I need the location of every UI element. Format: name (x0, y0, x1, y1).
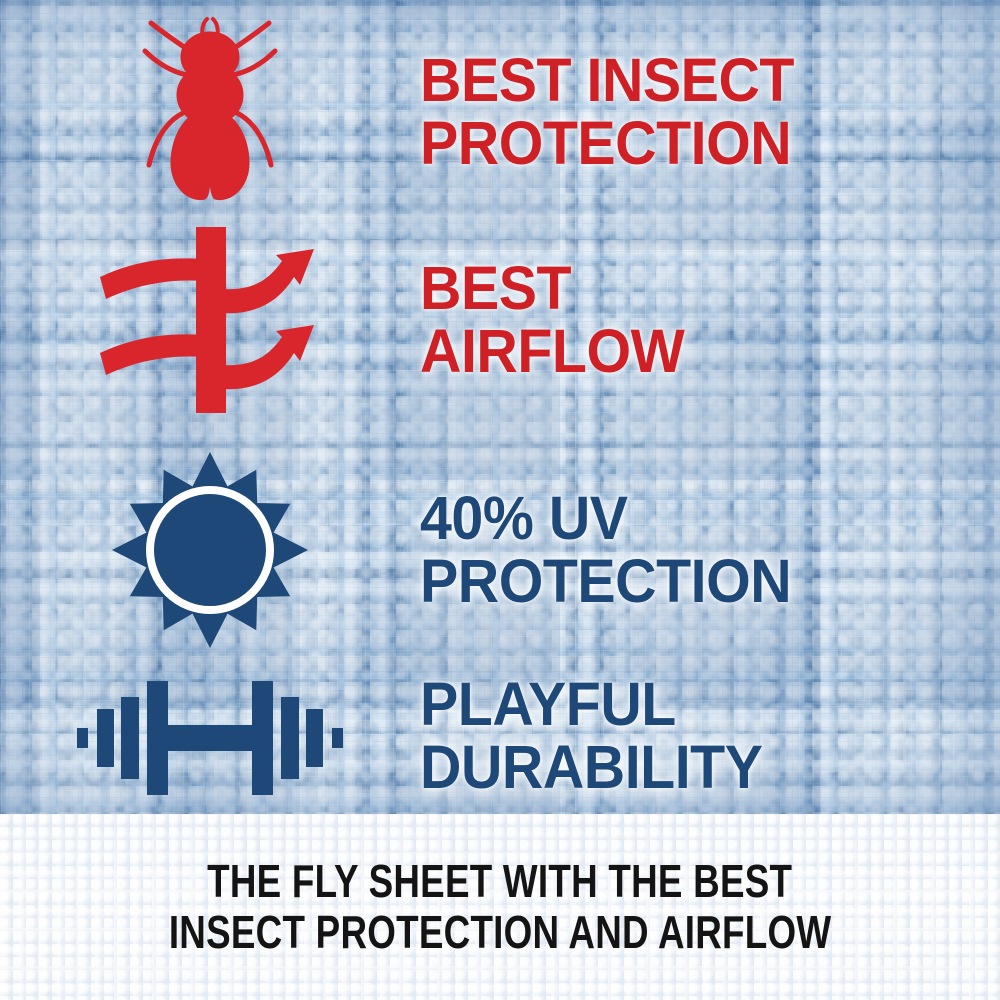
feature-icon-slot (0, 14, 420, 210)
product-feature-infographic: BEST INSECT PROTECTION (0, 0, 1000, 1000)
feature-row-durability: PLAYFUL DURABILITY (0, 660, 1000, 812)
feature-text-slot: 40% UV PROTECTION (420, 487, 1000, 614)
feature-title-line-1: PLAYFUL (420, 673, 965, 736)
feature-text-slot: BEST AIRFLOW (420, 257, 1000, 384)
fly-icon (135, 17, 285, 207)
feature-icon-slot (0, 442, 420, 658)
dumbbell-icon (75, 671, 345, 801)
feature-title-line-1: BEST (420, 257, 965, 320)
feature-icon-slot (0, 660, 420, 812)
feature-title-line-1: 40% UV (420, 487, 965, 550)
feature-row-uv-protection: 40% UV PROTECTION (0, 442, 1000, 658)
feature-list: BEST INSECT PROTECTION (0, 0, 1000, 814)
feature-title-line-1: BEST INSECT (420, 49, 965, 112)
caption-banner: THE FLY SHEET WITH THE BEST INSECT PROTE… (0, 814, 1000, 1000)
feature-title-line-2: DURABILITY (420, 736, 965, 799)
feature-title-line-2: AIRFLOW (420, 320, 965, 383)
feature-row-insect-protection: BEST INSECT PROTECTION (0, 14, 1000, 210)
sun-uv-icon (110, 450, 310, 650)
feature-text-slot: BEST INSECT PROTECTION (420, 49, 1000, 176)
airflow-icon (90, 225, 330, 415)
feature-text-slot: PLAYFUL DURABILITY (420, 673, 1000, 800)
feature-row-airflow: BEST AIRFLOW (0, 222, 1000, 418)
feature-icon-slot (0, 222, 420, 418)
feature-title-line-2: PROTECTION (420, 550, 965, 613)
caption-line-1: THE FLY SHEET WITH THE BEST (207, 856, 792, 907)
caption-line-2: INSECT PROTECTION AND AIRFLOW (169, 907, 832, 958)
feature-title-line-2: PROTECTION (420, 112, 965, 175)
